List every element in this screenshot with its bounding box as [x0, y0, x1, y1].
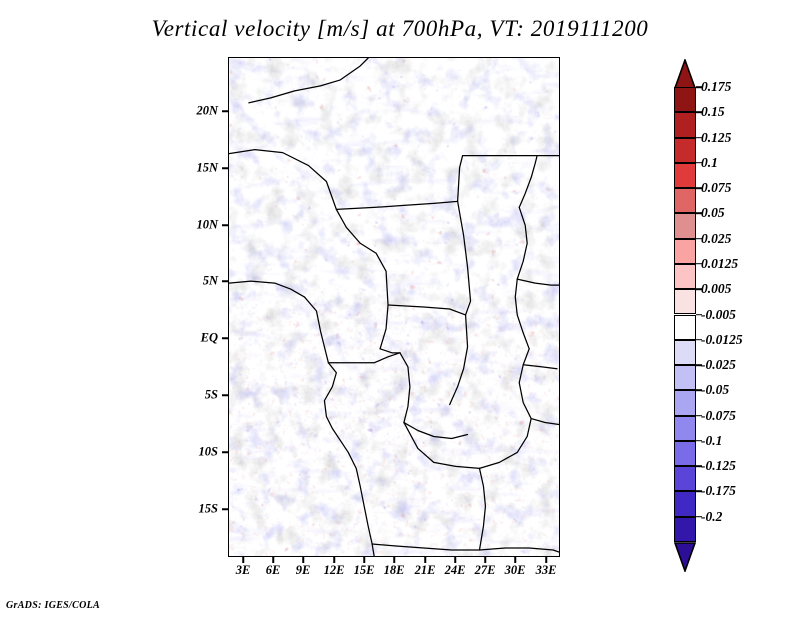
colorbar-tick-label: 0.05 [701, 205, 725, 221]
colorbar-tick-label: -0.125 [701, 458, 736, 474]
lat-tick-15N [222, 167, 228, 169]
colorbar-tick-label: 0.1 [701, 155, 718, 171]
colorbar-bands [674, 87, 696, 542]
x-axis-tick-label: 21E [415, 563, 436, 578]
colorbar-tick-label: 0.025 [701, 231, 731, 247]
colorbar-tick-label: -0.0125 [701, 332, 743, 348]
colorbar-tick-label: 0.15 [701, 104, 725, 120]
y-axis-tick-label: EQ [178, 331, 218, 346]
colorbar-tick-label: -0.1 [701, 433, 722, 449]
colorbar-tick-label: 0.005 [701, 281, 731, 297]
vertical-velocity-field [229, 58, 559, 556]
lat-tick-15S [222, 508, 228, 510]
y-axis-tick-label: 20N [178, 104, 218, 119]
lat-tick-5S [222, 394, 228, 396]
page-title: Vertical velocity [m/s] at 700hPa, VT: 2… [0, 16, 800, 42]
colorbar-tick-label: 0.075 [701, 180, 731, 196]
colorbar-band [674, 340, 696, 365]
colorbar-band [674, 315, 696, 340]
colorbar-band [674, 365, 696, 390]
x-axis-tick-label: 12E [324, 563, 345, 578]
colorbar-tick-label: 0.175 [701, 79, 731, 95]
colorbar-extend-min-arrow [674, 542, 696, 572]
x-axis-tick-label: 18E [384, 563, 405, 578]
colorbar-extend-max-arrow [674, 59, 696, 89]
colorbar: 0.175 0.15 0.125 0.1 0.075 0.05 0.025 0.… [670, 57, 800, 562]
y-axis-tick-label: 15N [178, 161, 218, 176]
x-axis-tick-label: 6E [266, 563, 281, 578]
colorbar-band [674, 491, 696, 516]
lat-tick-20N [222, 110, 228, 112]
colorbar-tick-label: -0.005 [701, 307, 736, 323]
x-axis-tick-label: 3E [236, 563, 251, 578]
y-axis-tick-label: 15S [178, 502, 218, 517]
colorbar-tick-label: -0.05 [701, 382, 729, 398]
colorbar-tick-label: -0.2 [701, 509, 722, 525]
map-plot-area [228, 57, 560, 557]
colorbar-band [674, 239, 696, 264]
x-axis-tick-label: 33E [536, 563, 557, 578]
y-axis-tick-label: 5N [178, 274, 218, 289]
lat-tick-10N [222, 224, 228, 226]
colorbar-band [674, 264, 696, 289]
colorbar-tick-label: -0.075 [701, 408, 736, 424]
x-axis-tick-label: 30E [505, 563, 526, 578]
colorbar-band [674, 112, 696, 137]
colorbar-band [674, 416, 696, 441]
x-axis-tick-label: 9E [296, 563, 311, 578]
colorbar-band [674, 517, 696, 542]
colorbar-tick-label: -0.025 [701, 357, 736, 373]
y-axis-tick-label: 10S [178, 445, 218, 460]
colorbar-tick-label: -0.175 [701, 483, 736, 499]
lat-tick-EQ [222, 337, 228, 339]
x-axis-tick-label: 15E [354, 563, 375, 578]
lat-tick-5N [222, 280, 228, 282]
x-axis-tick-label: 24E [445, 563, 466, 578]
colorbar-band [674, 466, 696, 491]
colorbar-band [674, 441, 696, 466]
x-axis-tick-label: 27E [475, 563, 496, 578]
colorbar-band [674, 87, 696, 112]
software-credit: GrADS: IGES/COLA [6, 600, 100, 611]
chart-root: Vertical velocity [m/s] at 700hPa, VT: 2… [0, 0, 800, 618]
y-axis-tick-label: 10N [178, 218, 218, 233]
colorbar-band [674, 138, 696, 163]
colorbar-band [674, 213, 696, 238]
colorbar-band [674, 390, 696, 415]
colorbar-tick-label: 0.0125 [701, 256, 738, 272]
colorbar-band [674, 289, 696, 314]
colorbar-band [674, 188, 696, 213]
y-axis-tick-label: 5S [178, 388, 218, 403]
colorbar-band [674, 163, 696, 188]
lat-tick-10S [222, 451, 228, 453]
colorbar-tick-label: 0.125 [701, 130, 731, 146]
